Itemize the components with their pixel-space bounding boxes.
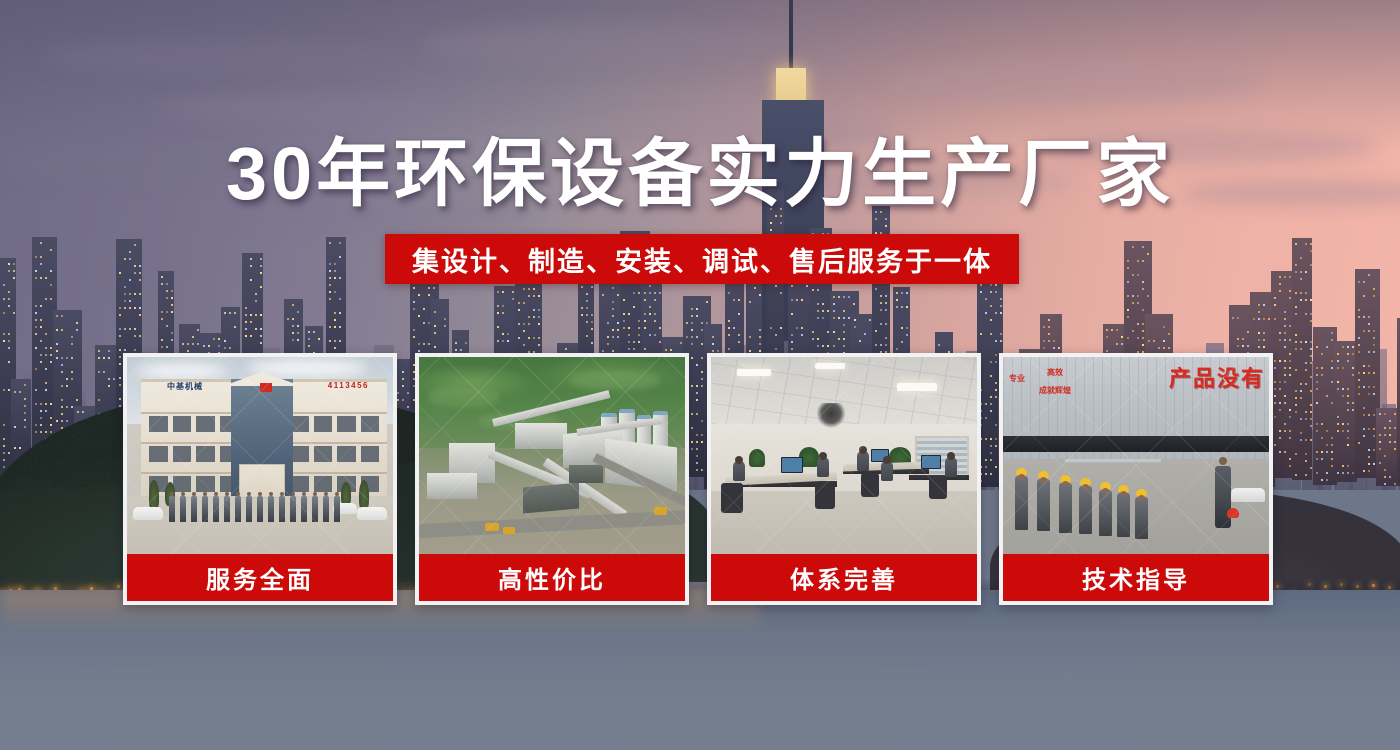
card-caption: 服务全面 — [127, 554, 393, 601]
staff-member — [312, 496, 318, 522]
factory-slogan-2: 高效 — [1047, 367, 1063, 378]
worker — [1135, 497, 1148, 539]
worker — [1079, 486, 1092, 534]
chair — [815, 483, 835, 509]
water-reflection — [1105, 616, 1294, 619]
card-caption-text: 高性价比 — [498, 560, 606, 595]
water-reflection — [500, 703, 648, 706]
parked-car — [133, 507, 163, 520]
seated-person — [817, 457, 829, 477]
monitor — [781, 457, 803, 473]
worker — [1059, 483, 1072, 533]
seated-person — [881, 461, 893, 481]
parked-car — [357, 507, 387, 520]
page-title: 30年环保设备实力生产厂家 — [0, 134, 1400, 214]
ceiling-light — [897, 383, 937, 391]
office-interior-photo — [711, 357, 977, 554]
chair — [721, 483, 743, 513]
staff-member — [235, 496, 241, 522]
shore-light — [1372, 584, 1375, 587]
company-headquarters-photo: 中基机械 4113456 — [127, 357, 393, 554]
staff-member — [290, 496, 296, 522]
staff-member — [213, 496, 219, 522]
water-reflection — [92, 669, 176, 672]
building — [1292, 238, 1312, 480]
staff-member — [268, 496, 274, 522]
seated-person — [857, 451, 869, 471]
staff-member — [224, 496, 230, 522]
red-helmet — [1227, 508, 1239, 518]
water-reflection — [813, 614, 889, 617]
ceiling-light — [737, 369, 771, 376]
shed — [569, 465, 603, 483]
staff-member — [191, 496, 197, 522]
water-reflection — [963, 653, 1111, 656]
water-reflection — [1047, 673, 1090, 676]
card-caption: 技术指导 — [1003, 554, 1269, 601]
staff-member — [202, 496, 208, 522]
river — [0, 590, 1400, 750]
water-reflection — [611, 676, 697, 679]
plant-building — [427, 473, 477, 499]
staff-member — [323, 496, 329, 522]
worker — [1015, 476, 1028, 530]
feature-card[interactable]: 体系完善 — [707, 353, 981, 605]
excavator — [485, 523, 499, 531]
worker — [1117, 493, 1130, 537]
instructor — [1215, 466, 1231, 528]
chair — [929, 477, 947, 499]
worker — [1099, 490, 1112, 536]
card-caption: 体系完善 — [711, 554, 977, 601]
seated-person — [945, 457, 957, 477]
feature-card-list: 中基机械 4113456 服务全面 — [123, 353, 1278, 605]
staff-member — [257, 496, 263, 522]
shore-light — [1340, 583, 1343, 586]
staff-member — [334, 496, 340, 522]
promo-banner: 30年环保设备实力生产厂家 集设计、制造、安装、调试、售后服务于一体 — [0, 0, 1400, 750]
excavator — [503, 527, 515, 534]
subtitle-text: 集设计、制造、安装、调试、售后服务于一体 — [412, 240, 992, 279]
feature-card[interactable]: 高性价比 — [415, 353, 689, 605]
shore-light — [1308, 583, 1311, 586]
building — [1334, 341, 1357, 482]
facade-dark-band — [1003, 436, 1269, 452]
worker — [1037, 479, 1050, 531]
factory-sign-text: 产品没有 — [1169, 361, 1265, 393]
monitor — [921, 455, 941, 469]
staff-member — [180, 496, 186, 522]
card-caption-text: 体系完善 — [790, 560, 898, 595]
water-reflection — [855, 669, 949, 672]
card-caption: 高性价比 — [419, 554, 685, 601]
photo-cloud — [137, 363, 227, 379]
water-reflection — [846, 658, 935, 661]
flag — [260, 383, 272, 392]
feature-card[interactable]: 产品没有 专业 高效 成就辉煌 技术指导 — [999, 353, 1273, 605]
water-reflection — [930, 661, 1111, 664]
shed — [523, 483, 579, 514]
water-reflection — [1211, 725, 1259, 728]
building-sign-text: 中基机械 — [167, 381, 203, 392]
feature-card[interactable]: 中基机械 4113456 服务全面 — [123, 353, 397, 605]
aerial-plant-photo — [419, 357, 685, 554]
building-phone-number: 4113456 — [328, 381, 369, 390]
subtitle-bar: 集设计、制造、安装、调试、售后服务于一体 — [385, 234, 1019, 284]
excavator — [654, 507, 667, 515]
factory-slogan-3: 成就辉煌 — [1039, 385, 1071, 396]
plant-building — [515, 423, 567, 449]
card-caption-text: 服务全面 — [206, 560, 314, 595]
seated-person — [733, 461, 745, 481]
chair — [861, 473, 879, 497]
factory-slogan-1: 专业 — [1009, 373, 1025, 384]
parked-car — [1231, 488, 1265, 502]
ceiling-light — [815, 363, 845, 369]
wall-logo — [817, 403, 845, 429]
card-caption-text: 技术指导 — [1082, 560, 1190, 595]
staff-member — [169, 496, 175, 522]
shore-light — [1324, 585, 1327, 588]
building-entrance — [239, 464, 285, 498]
worker-training-photo: 产品没有 专业 高效 成就辉煌 — [1003, 357, 1269, 554]
plant-road — [419, 510, 685, 538]
staff-member — [301, 496, 307, 522]
staff-member — [279, 496, 285, 522]
shore-light — [1356, 585, 1359, 588]
office-floor — [711, 491, 977, 554]
staff-member — [246, 496, 252, 522]
shore-light — [1388, 586, 1391, 589]
